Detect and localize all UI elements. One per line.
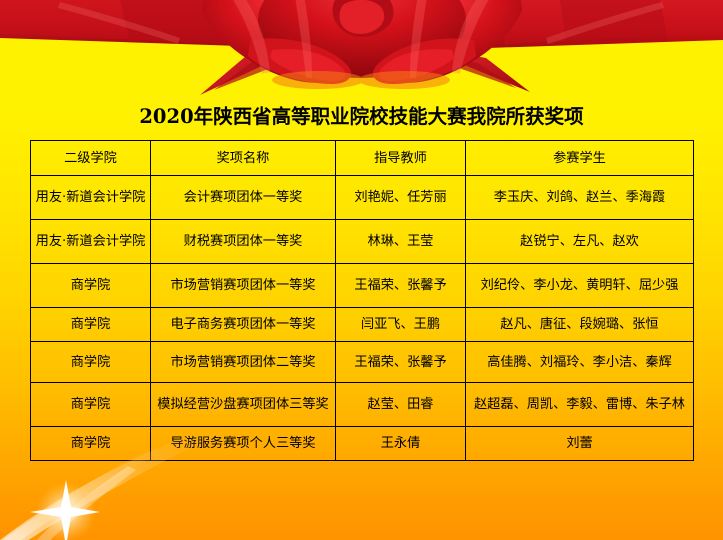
column-header-college: 二级学院	[31, 141, 151, 176]
table-row: 商学院 导游服务赛项个人三等奖 王永倩 刘蕾	[31, 427, 694, 461]
table-row: 商学院 市场营销赛项团体二等奖 王福荣、张馨予 高佳腾、刘福玲、李小洁、秦辉	[31, 342, 694, 383]
cell-teachers: 林琳、王莹	[336, 220, 466, 264]
cell-college: 商学院	[31, 342, 151, 383]
cell-students: 赵锐宁、左凡、赵欢	[466, 220, 694, 264]
table-row: 用友·新道会计学院 会计赛项团体一等奖 刘艳妮、任芳丽 李玉庆、刘鸽、赵兰、季海…	[31, 176, 694, 220]
cell-award: 导游服务赛项个人三等奖	[151, 427, 336, 461]
cell-students: 赵超磊、周凯、李毅、雷博、朱子林	[466, 383, 694, 427]
cell-award: 电子商务赛项团体一等奖	[151, 308, 336, 342]
column-header-teacher: 指导教师	[336, 141, 466, 176]
cell-award: 模拟经营沙盘赛项团体三等奖	[151, 383, 336, 427]
cell-teachers: 王永倩	[336, 427, 466, 461]
cell-award: 市场营销赛项团体一等奖	[151, 264, 336, 308]
cell-award: 财税赛项团体一等奖	[151, 220, 336, 264]
table-row: 用友·新道会计学院 财税赛项团体一等奖 林琳、王莹 赵锐宁、左凡、赵欢	[31, 220, 694, 264]
cell-students: 赵凡、唐征、段婉璐、张恒	[466, 308, 694, 342]
cell-college: 商学院	[31, 308, 151, 342]
awards-table: 二级学院 奖项名称 指导教师 参赛学生 用友·新道会计学院 会计赛项团体一等奖 …	[30, 140, 694, 461]
column-header-award: 奖项名称	[151, 141, 336, 176]
red-ribbon-decoration	[0, 0, 723, 100]
cell-teachers: 王福荣、张馨予	[336, 264, 466, 308]
cell-college: 商学院	[31, 383, 151, 427]
cell-award: 会计赛项团体一等奖	[151, 176, 336, 220]
cell-teachers: 赵莹、田睿	[336, 383, 466, 427]
cell-students: 高佳腾、刘福玲、李小洁、秦辉	[466, 342, 694, 383]
cell-college: 商学院	[31, 264, 151, 308]
red-ribbon-icon	[0, 0, 723, 100]
cell-teachers: 王福荣、张馨予	[336, 342, 466, 383]
cell-teachers: 闫亚飞、王鹏	[336, 308, 466, 342]
cell-students: 刘纪伶、李小龙、黄明轩、屈少强	[466, 264, 694, 308]
slide-canvas: 2020年陕西省高等职业院校技能大赛我院所获奖项 二级学院 奖项名称 指导教师 …	[0, 0, 723, 540]
column-header-students: 参赛学生	[466, 141, 694, 176]
table-row: 商学院 市场营销赛项团体一等奖 王福荣、张馨予 刘纪伶、李小龙、黄明轩、屈少强	[31, 264, 694, 308]
slide-title: 2020年陕西省高等职业院校技能大赛我院所获奖项	[0, 104, 723, 130]
table-row: 商学院 模拟经营沙盘赛项团体三等奖 赵莹、田睿 赵超磊、周凯、李毅、雷博、朱子林	[31, 383, 694, 427]
table-header-row: 二级学院 奖项名称 指导教师 参赛学生	[31, 141, 694, 176]
cell-teachers: 刘艳妮、任芳丽	[336, 176, 466, 220]
cell-students: 李玉庆、刘鸽、赵兰、季海霞	[466, 176, 694, 220]
table-row: 商学院 电子商务赛项团体一等奖 闫亚飞、王鹏 赵凡、唐征、段婉璐、张恒	[31, 308, 694, 342]
cell-students: 刘蕾	[466, 427, 694, 461]
cell-college: 用友·新道会计学院	[31, 220, 151, 264]
cell-award: 市场营销赛项团体二等奖	[151, 342, 336, 383]
cell-college: 用友·新道会计学院	[31, 176, 151, 220]
cell-college: 商学院	[31, 427, 151, 461]
